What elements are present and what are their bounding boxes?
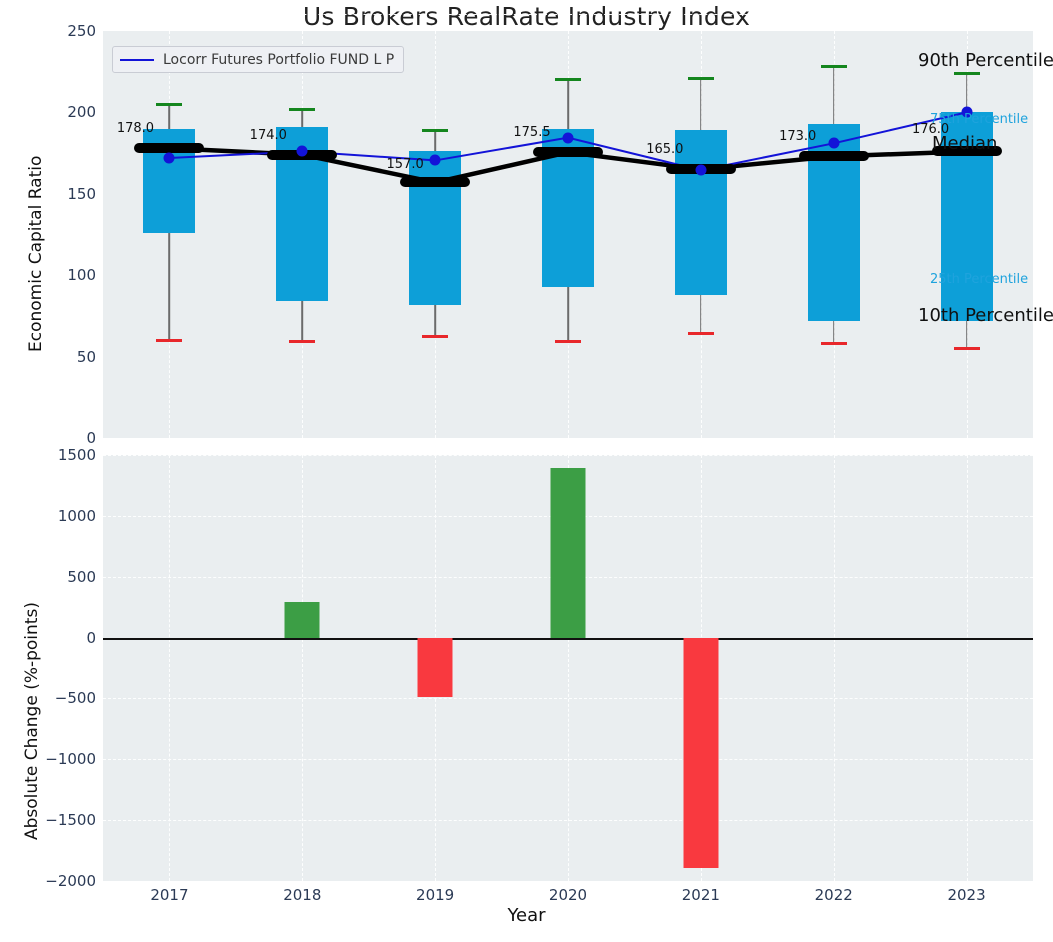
y-tick-label: 1000: [6, 507, 96, 525]
y-tick-label: 500: [6, 568, 96, 586]
p10-cap: [688, 332, 714, 335]
y-tick-label: 0: [6, 429, 96, 447]
gridline-vertical: [302, 455, 303, 881]
x-tick-label-2018: 2018: [283, 886, 321, 904]
top-panel-y-axis-label: Economic Capital Ratio: [26, 156, 46, 352]
y-tick-label: 100: [6, 266, 96, 284]
p90-cap: [954, 72, 980, 75]
median-value-label: 165.0: [646, 142, 683, 157]
median-value-label: 178.0: [117, 121, 154, 136]
fund-data-point: [164, 152, 175, 163]
zero-baseline: [103, 638, 1033, 640]
y-tick-label: −500: [6, 689, 96, 707]
annotation-median: Median: [932, 133, 997, 154]
y-tick-label: 1500: [6, 446, 96, 464]
bottom-panel-y-axis-label: Absolute Change (%-points): [22, 602, 42, 840]
box-iqr: [409, 151, 461, 304]
chart-root: Us Brokers RealRate Industry Index 05010…: [0, 0, 1053, 942]
y-tick-label: 0: [6, 629, 96, 647]
x-tick-label-2019: 2019: [416, 886, 454, 904]
p10-cap: [289, 340, 315, 343]
chart-legend: Locorr Futures Portfolio FUND L P: [112, 46, 404, 73]
gridline-horizontal: [103, 14, 1033, 15]
median-marker: [533, 147, 603, 157]
annotation-25th-percentile: 25th Percentile: [930, 272, 1028, 287]
gridline-horizontal: [103, 881, 1033, 882]
legend-line-swatch: [120, 59, 154, 61]
annotation-90th-percentile: 90th Percentile: [918, 50, 1053, 71]
y-tick-label: 150: [6, 185, 96, 203]
median-marker: [799, 151, 869, 161]
bar-positive-2020: [551, 468, 586, 637]
x-axis-label: Year: [0, 905, 1053, 926]
gridline-vertical: [967, 455, 968, 881]
y-tick-label: 200: [6, 103, 96, 121]
p10-cap: [156, 339, 182, 342]
fund-data-point: [828, 138, 839, 149]
p10-cap: [821, 342, 847, 345]
bar-negative-2019: [418, 638, 453, 698]
x-tick-label-2022: 2022: [815, 886, 853, 904]
legend-label-fund: Locorr Futures Portfolio FUND L P: [163, 52, 394, 68]
x-tick-label-2023: 2023: [947, 886, 985, 904]
x-tick-label-2020: 2020: [549, 886, 587, 904]
p90-cap: [688, 77, 714, 80]
p90-cap: [821, 65, 847, 68]
gridline-vertical: [169, 455, 170, 881]
bar-negative-2021: [683, 638, 718, 868]
fund-data-point: [563, 132, 574, 143]
p10-cap: [422, 335, 448, 338]
fund-data-point: [297, 146, 308, 157]
annotation-10th-percentile: 10th Percentile: [918, 305, 1053, 326]
p10-cap: [555, 340, 581, 343]
p90-cap: [422, 129, 448, 132]
p10-cap: [954, 347, 980, 350]
chart-title: Us Brokers RealRate Industry Index: [0, 2, 1053, 31]
x-tick-label-2017: 2017: [150, 886, 188, 904]
y-tick-label: −2000: [6, 872, 96, 890]
y-tick-label: 250: [6, 22, 96, 40]
p90-cap: [555, 78, 581, 81]
median-marker: [400, 177, 470, 187]
gridline-vertical: [834, 455, 835, 881]
fund-data-point: [695, 165, 706, 176]
p90-cap: [156, 103, 182, 106]
y-tick-label: −1500: [6, 811, 96, 829]
p90-cap: [289, 108, 315, 111]
median-value-label: 174.0: [250, 128, 287, 143]
median-value-label: 157.0: [387, 157, 424, 172]
fund-data-point: [430, 155, 441, 166]
y-tick-label: 50: [6, 348, 96, 366]
y-tick-label: −1000: [6, 750, 96, 768]
bar-positive-2018: [285, 602, 320, 637]
annotation-75th-percentile: 75th Percentile: [930, 112, 1028, 127]
median-value-label: 173.0: [779, 129, 816, 144]
median-value-label: 175.5: [513, 125, 550, 140]
x-tick-label-2021: 2021: [682, 886, 720, 904]
